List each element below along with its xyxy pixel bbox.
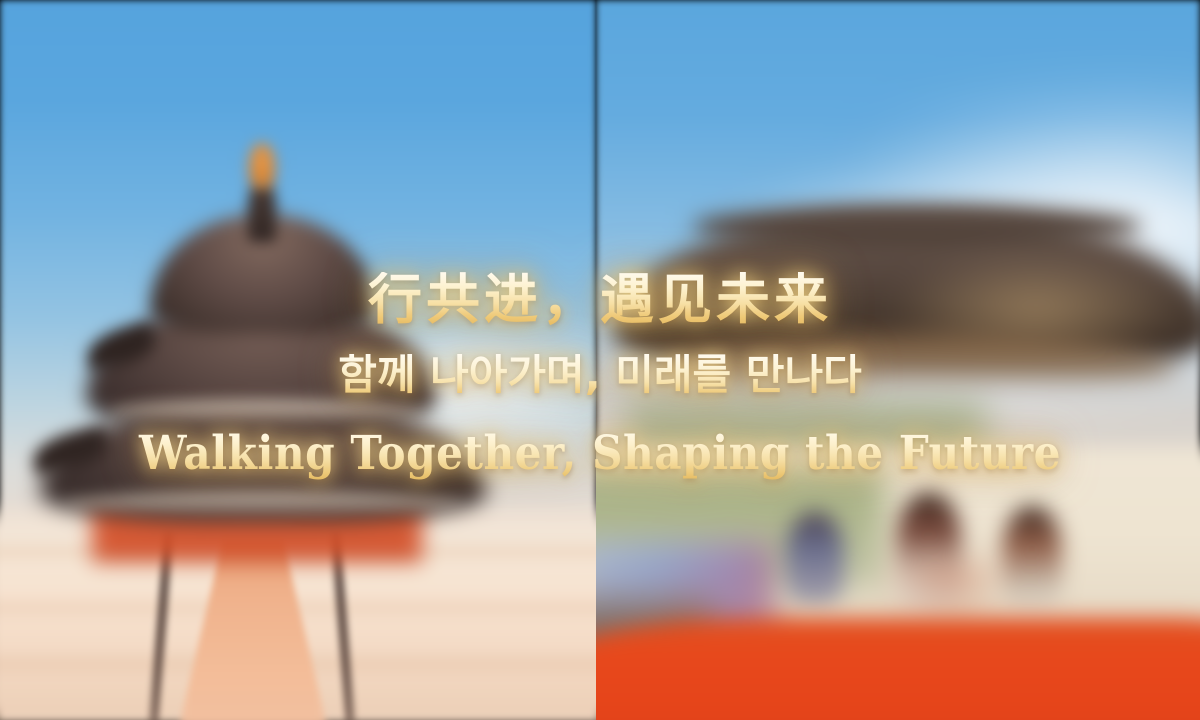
panel-left-temple-of-heaven xyxy=(0,0,596,720)
left-eave-band-lower xyxy=(64,492,464,514)
right-roof-ridge xyxy=(692,206,1142,246)
title-card-slide: 行共进，遇见未来 함께 나아가며, 미래를 만나다 Walking Togeth… xyxy=(0,0,1200,720)
left-golden-finial xyxy=(249,143,275,189)
right-orange-foreground xyxy=(596,618,1200,720)
left-eave-band-middle xyxy=(108,400,424,422)
panel-right-gyeongbokgung xyxy=(596,0,1200,720)
right-figure-1 xyxy=(786,512,844,604)
left-roof-spire xyxy=(248,182,276,242)
